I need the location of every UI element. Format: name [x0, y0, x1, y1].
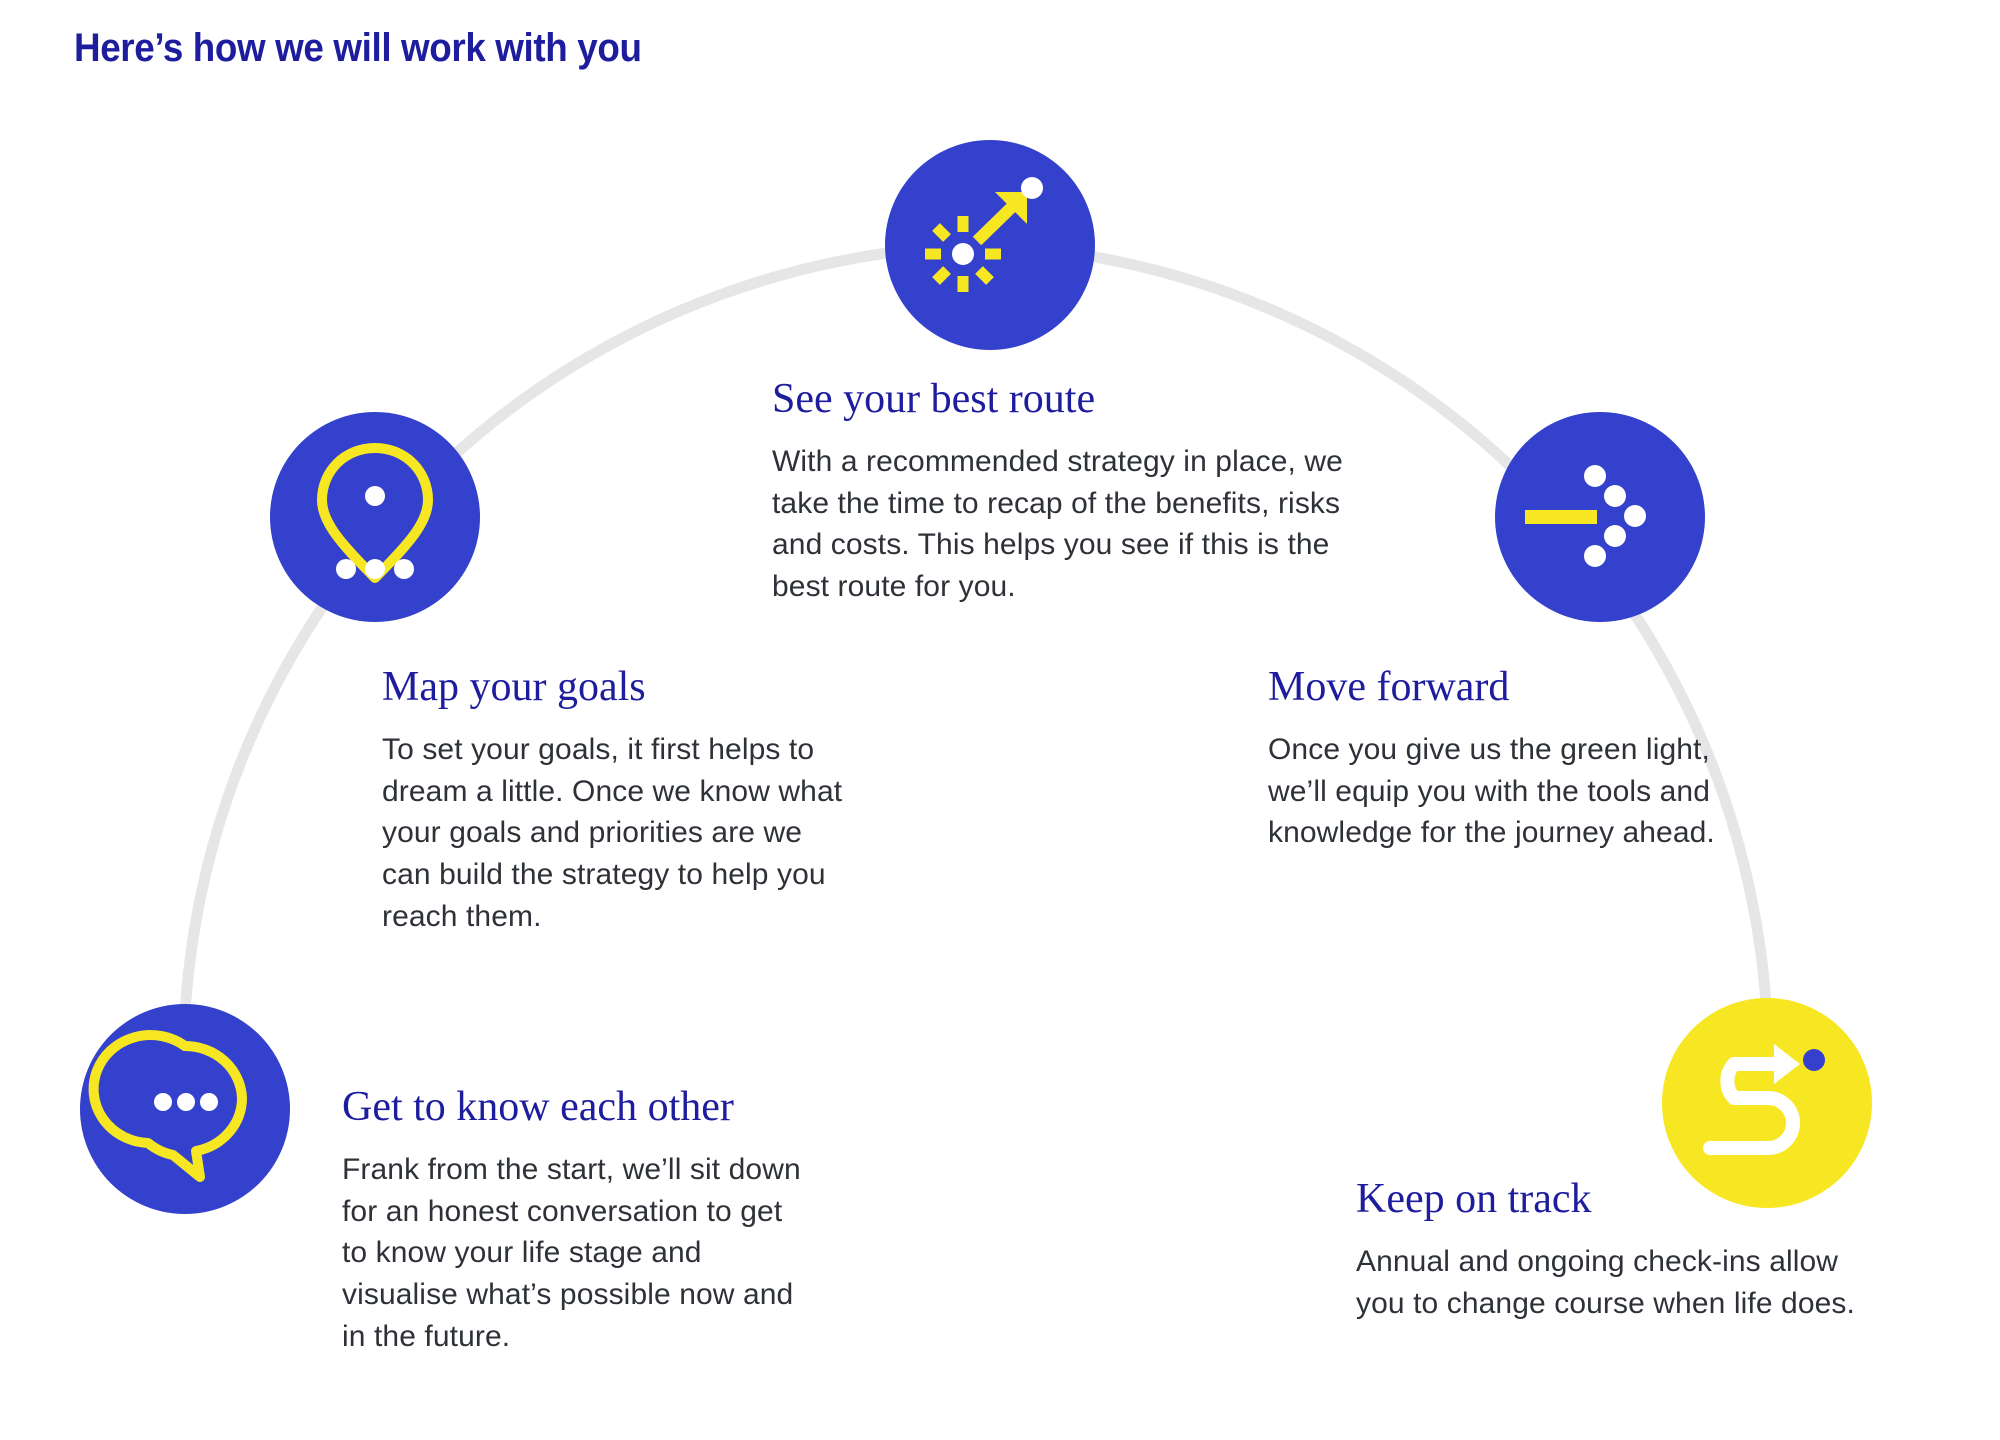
step-body: Annual and ongoing check-ins allow you t… — [1356, 1241, 1856, 1324]
step-heading: See your best route — [772, 376, 1352, 423]
infographic-canvas: Here’s how we will work with you — [0, 0, 2000, 1440]
step-body: To set your goals, it first helps to dre… — [382, 729, 852, 937]
step-heading: Get to know each other — [342, 1084, 812, 1131]
step-icon-move-forward[interactable] — [1495, 412, 1705, 622]
step-text-keep-on-track: Keep on track Annual and ongoing check-i… — [1356, 1176, 1856, 1324]
step-body: With a recommended strategy in place, we… — [772, 441, 1352, 608]
step-text-see-your-best-route: See your best route With a recommended s… — [772, 376, 1352, 608]
step-icon-get-to-know-each-other[interactable] — [80, 1004, 290, 1214]
step-heading: Move forward — [1268, 664, 1718, 711]
step-heading: Map your goals — [382, 664, 852, 711]
step-text-get-to-know-each-other: Get to know each other Frank from the st… — [342, 1084, 812, 1357]
circle-background — [885, 140, 1095, 350]
step-heading: Keep on track — [1356, 1176, 1856, 1223]
step-body: Frank from the start, we’ll sit down for… — [342, 1149, 812, 1357]
step-body: Once you give us the green light, we’ll … — [1268, 729, 1718, 854]
step-text-move-forward: Move forward Once you give us the green … — [1268, 664, 1718, 854]
step-icon-see-your-best-route[interactable] — [885, 140, 1095, 350]
step-icon-map-your-goals[interactable] — [270, 412, 480, 622]
page-title: Here’s how we will work with you — [74, 26, 642, 71]
step-text-map-your-goals: Map your goals To set your goals, it fir… — [382, 664, 852, 937]
